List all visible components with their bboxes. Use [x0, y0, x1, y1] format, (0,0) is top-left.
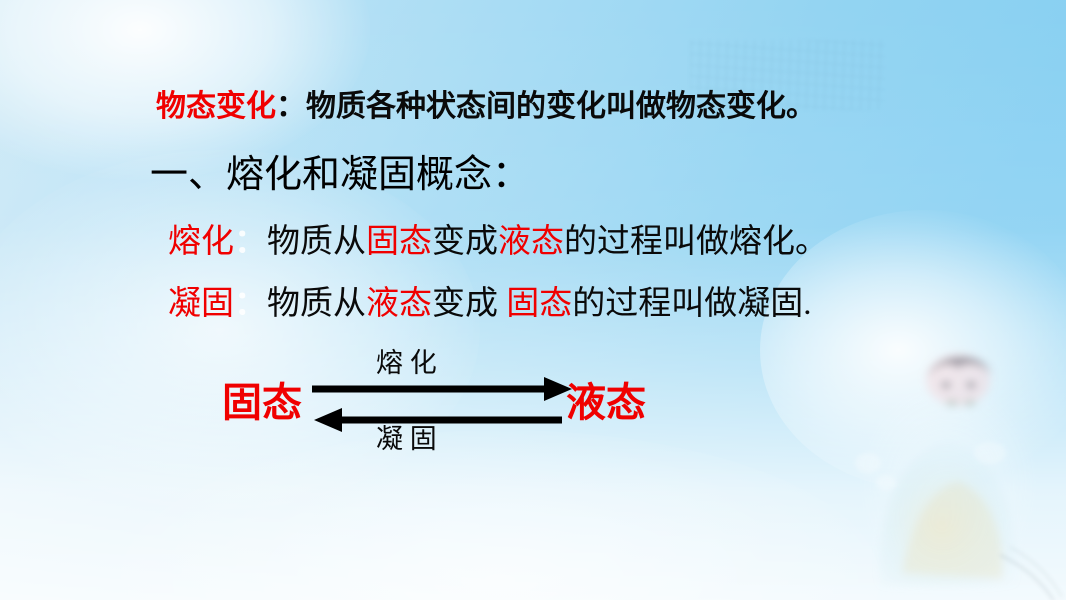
- melting-part2: 变成: [432, 224, 498, 260]
- arrow-left-solidifying: [314, 408, 562, 432]
- solidifying-part2: 变成: [432, 286, 506, 322]
- solidifying-term: 凝固: [168, 286, 234, 322]
- definition-term: 物态变化: [156, 90, 276, 123]
- state-change-diagram: 固态 液态 熔 化 凝 固: [210, 348, 680, 466]
- definition-colon: ：: [276, 90, 306, 123]
- melting-colon: ：: [234, 224, 267, 260]
- diagram-arrows: [210, 348, 680, 466]
- arrow-right-melting: [312, 377, 572, 401]
- definition-body: 物质各种状态间的变化叫做物态变化。: [306, 90, 816, 123]
- definition-line: 物态变化：物质各种状态间的变化叫做物态变化。: [156, 92, 816, 122]
- melting-to-state: 液态: [498, 224, 564, 260]
- melting-definition-line: 熔化：物质从固态变成液态的过程叫做熔化。: [168, 226, 828, 259]
- figure-watermark: [840, 335, 1066, 600]
- solidifying-from-state: 液态: [366, 286, 432, 322]
- solidifying-part1: 物质从: [267, 286, 366, 322]
- solidifying-part3: 的过程叫做凝固.: [572, 286, 811, 322]
- solidifying-to-state: 固态: [506, 286, 572, 322]
- section-title: 一、熔化和凝固概念：: [150, 156, 530, 194]
- melting-term: 熔化: [168, 224, 234, 260]
- melting-part1: 物质从: [267, 224, 366, 260]
- slide-canvas: 物态变化：物质各种状态间的变化叫做物态变化。 一、熔化和凝固概念： 熔化：物质从…: [0, 0, 1066, 600]
- melting-part3: 的过程叫做熔化。: [564, 224, 828, 260]
- solidifying-definition-line: 凝固：物质从液态变成 固态的过程叫做凝固.: [168, 288, 812, 321]
- melting-from-state: 固态: [366, 224, 432, 260]
- solidifying-colon: ：: [234, 286, 267, 322]
